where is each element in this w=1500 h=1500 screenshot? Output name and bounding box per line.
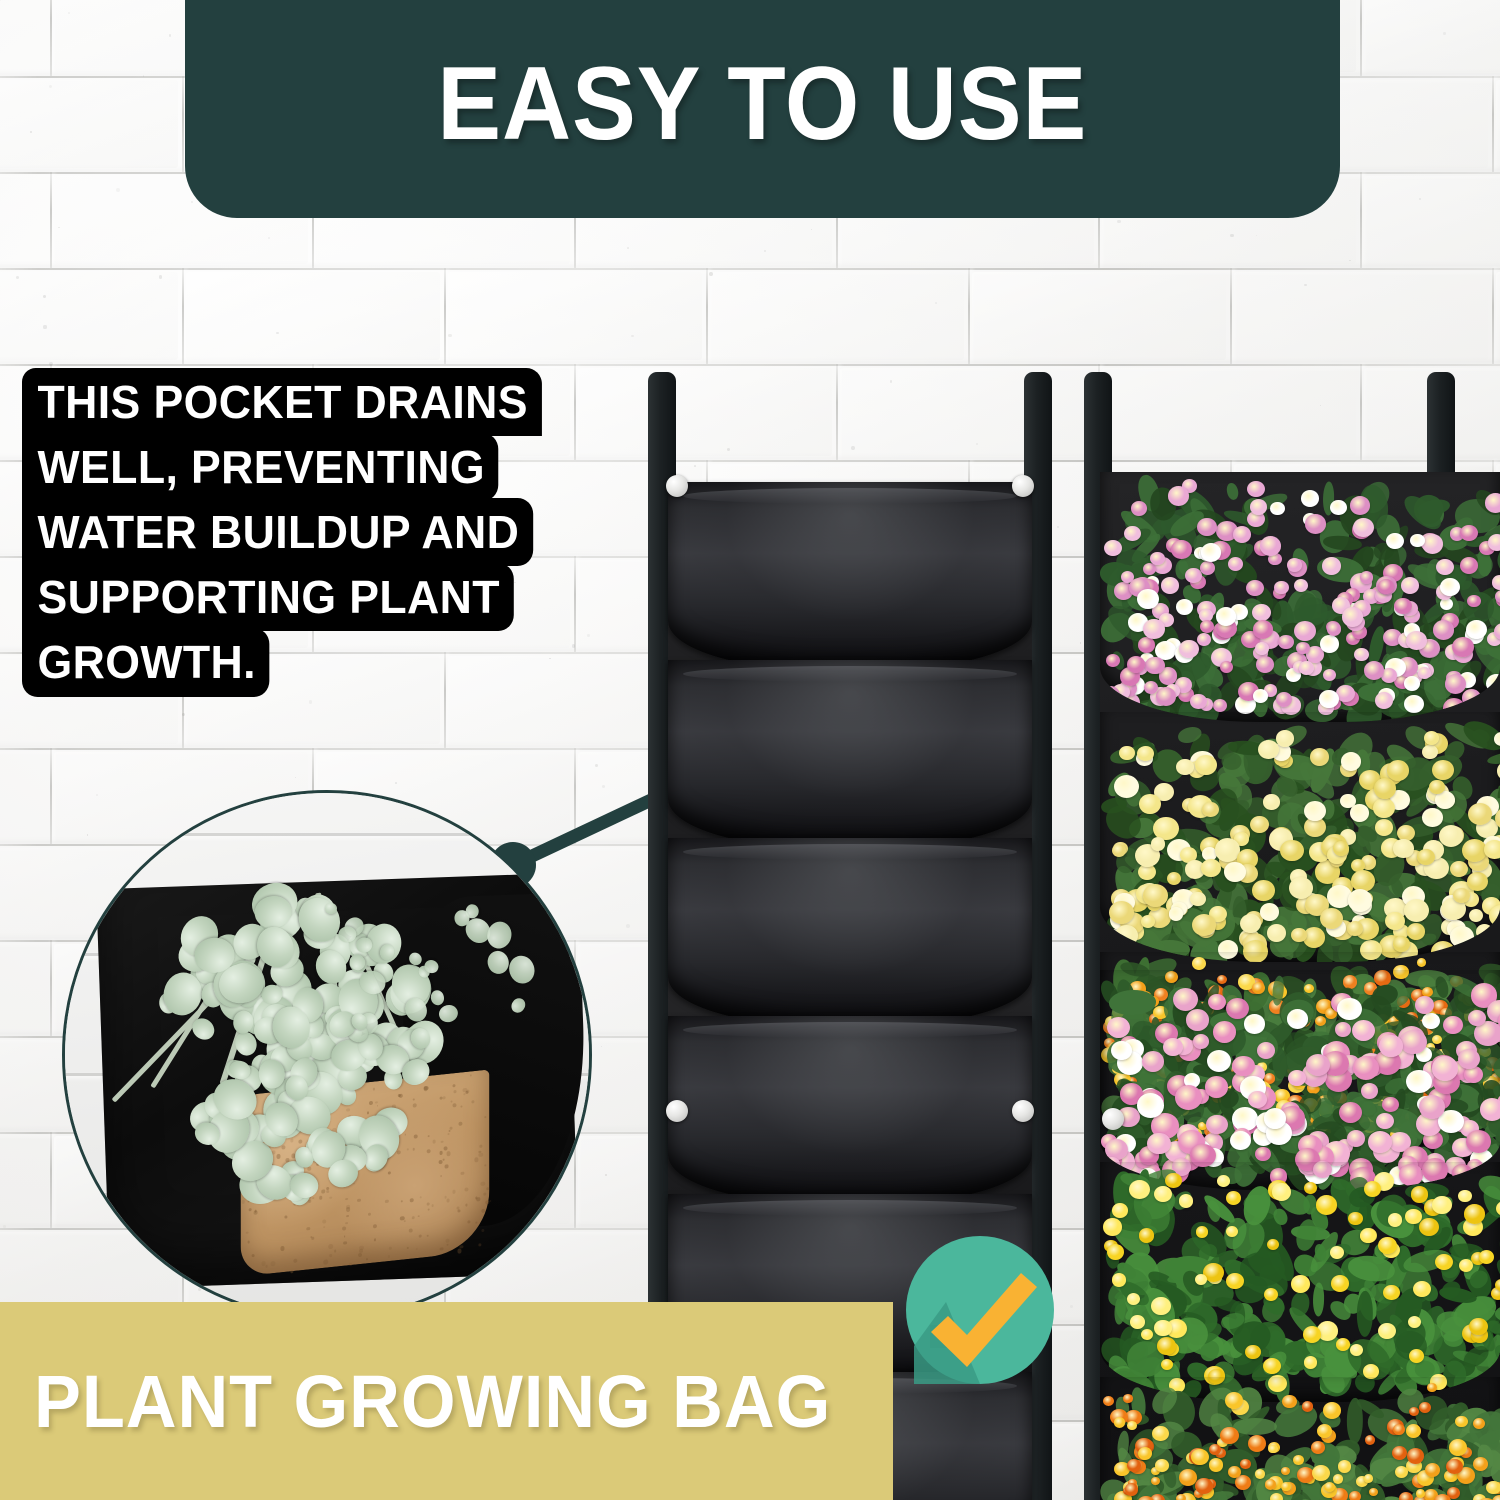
flower-bloom [1209, 1444, 1221, 1455]
flower-bloom [1265, 1479, 1276, 1489]
flower-bloom [1411, 1186, 1429, 1202]
soil-grain [407, 1247, 409, 1249]
flower-bloom [1139, 794, 1160, 814]
foliage-leaf [1357, 1291, 1373, 1337]
flower-bloom [1353, 1056, 1379, 1080]
flower-bloom [1466, 620, 1487, 639]
soil-grain [458, 1121, 462, 1126]
soil-grain [373, 1088, 375, 1090]
brick-mortar-vertical [706, 268, 708, 364]
flower-bloom [1445, 674, 1466, 693]
flower-bloom [1492, 575, 1500, 589]
soil-grain [246, 1231, 249, 1234]
planted-grow-bag [1072, 372, 1500, 1500]
brick-mortar-vertical [50, 1132, 52, 1228]
flower-bloom [1373, 798, 1395, 818]
soil-grain [343, 1241, 346, 1245]
flower-bloom [1488, 534, 1500, 551]
flower-bloom [1459, 1259, 1473, 1272]
flower-bloom [1417, 958, 1427, 967]
brick-face [1234, 272, 1488, 360]
flower-bloom [1138, 1447, 1153, 1460]
flower-bloom [1432, 760, 1454, 780]
soil-grain [449, 1127, 452, 1131]
soil-grain [252, 1254, 255, 1257]
wall-speck [1349, 260, 1351, 262]
flower-bloom [1247, 481, 1265, 497]
flower-bloom [1350, 804, 1369, 821]
soil-grain [427, 1235, 429, 1237]
flower-bloom [1161, 1359, 1173, 1370]
soil-grain [470, 1074, 472, 1076]
flower-bloom [1145, 657, 1164, 675]
soil-grain [388, 1255, 390, 1258]
soil-grain [346, 1214, 349, 1217]
check-badge [906, 1236, 1054, 1384]
flower-bloom [1191, 1449, 1209, 1465]
soil-grain [322, 1220, 326, 1224]
soil-grain [353, 1183, 355, 1185]
soil-grain [464, 1187, 468, 1192]
wall-speck [143, 75, 144, 76]
soil-grain [477, 1197, 481, 1201]
flower-bloom [1127, 1421, 1137, 1430]
foliage [1100, 712, 1500, 962]
flower-bloom [1213, 1021, 1236, 1043]
wall-speck [631, 335, 633, 337]
flower-bloom [1282, 1395, 1296, 1408]
soil-grain [344, 1235, 346, 1237]
bag-body [1100, 472, 1500, 1500]
flower-bloom [1167, 872, 1181, 885]
flower-bloom [1450, 926, 1474, 948]
soil-grain [479, 1152, 484, 1157]
soil-grain [271, 1261, 276, 1266]
flower-bloom [1450, 861, 1468, 878]
soil-grain [483, 1192, 486, 1196]
flower-bloom [1485, 493, 1500, 512]
callout-line-1: THIS POCKET DRAINS [22, 368, 542, 436]
flower-bloom [1350, 496, 1370, 514]
flower-bloom [1353, 518, 1374, 537]
flower-bloom [1125, 1483, 1138, 1495]
foliage [1100, 1162, 1500, 1402]
flower-bloom [1291, 928, 1306, 942]
wall-speck [268, 237, 270, 239]
flower-bloom [1360, 571, 1374, 584]
flower-bloom [1142, 1051, 1164, 1071]
flower-bloom [1406, 631, 1427, 650]
soil-grain [427, 1135, 429, 1138]
flower-bloom [1293, 1455, 1304, 1465]
flower-bloom [1393, 839, 1413, 858]
brick-mortar-vertical [1230, 268, 1232, 364]
flower-bloom [1112, 1203, 1128, 1218]
flower-bloom [1157, 1337, 1176, 1355]
flower-bloom [1137, 1093, 1164, 1118]
page-title: EASY TO USE [438, 52, 1088, 156]
soil-grain [345, 1197, 348, 1200]
soil-grain [312, 1197, 314, 1199]
soil-grain [241, 1200, 244, 1204]
soil-grain [426, 1149, 430, 1154]
pocket-closeup-inset [62, 790, 592, 1320]
flower-bloom [1226, 998, 1249, 1019]
soil-grain [413, 1103, 417, 1107]
brick-face [710, 272, 964, 360]
flower-bloom [1378, 1237, 1397, 1254]
flower-bloom [1179, 640, 1198, 658]
flower-bloom [1141, 1329, 1153, 1340]
soil-grain [293, 1259, 297, 1264]
flower-bloom [1263, 1358, 1281, 1374]
flower-bloom [1281, 1482, 1291, 1491]
soil-grain [410, 1198, 414, 1202]
flower-bloom [1407, 923, 1425, 939]
soil-grain [342, 1226, 346, 1231]
plant-leaf [325, 903, 337, 914]
soil-grain [366, 1258, 368, 1260]
flower-bloom [1171, 540, 1192, 559]
soil-grain [457, 1209, 460, 1212]
soil-grain [465, 1203, 468, 1206]
soil-grain [330, 1197, 332, 1199]
soil-grain [399, 1093, 403, 1098]
footer-banner: PLANT GROWING BAG [0, 1302, 893, 1500]
soil-grain [419, 1234, 422, 1237]
brick-mortar-vertical [50, 748, 52, 844]
flower-bloom [1216, 607, 1236, 626]
soil-grain [444, 1146, 448, 1150]
flower-bloom [1260, 903, 1279, 921]
wall-speck [0, 0, 1, 1]
soil-grain [481, 1181, 485, 1186]
soil-grain [280, 1246, 285, 1251]
soil-grain [476, 1222, 478, 1224]
brick-face [1364, 0, 1500, 72]
flower-bloom [1195, 755, 1217, 775]
flower-bloom [1415, 996, 1434, 1014]
brick-face [1364, 176, 1500, 264]
soil-grain [474, 1157, 479, 1162]
soil-grain [439, 1151, 443, 1155]
soil-grain [413, 1134, 417, 1139]
flower-bloom [1260, 536, 1281, 556]
soil-grain [346, 1222, 349, 1225]
flower-bloom [1467, 872, 1488, 891]
flower-bloom [1152, 1426, 1169, 1441]
foliage-leaf [1225, 482, 1240, 501]
flower-bloom [1264, 1288, 1279, 1302]
flower-bloom [1401, 577, 1419, 594]
flower-bloom [1364, 1474, 1373, 1482]
flower-bloom [1256, 656, 1274, 673]
flower-bloom [1432, 1056, 1459, 1081]
flower-bloom [1288, 1070, 1305, 1086]
soil-grain [447, 1133, 449, 1135]
wall-speck [395, 782, 397, 784]
flower-bloom [1276, 730, 1294, 746]
flower-bloom [1139, 1228, 1155, 1242]
soil-grain [441, 1140, 443, 1143]
flower-bloom [1103, 1396, 1114, 1406]
flower-bloom [1376, 1113, 1393, 1129]
flower-bloom [1351, 870, 1375, 892]
flower-bloom [1287, 558, 1302, 572]
flower-bloom [1365, 1435, 1375, 1444]
wall-speck [182, 713, 185, 716]
flower-bloom [1336, 685, 1355, 702]
soil-grain [457, 1249, 461, 1254]
soil-grain [323, 1259, 328, 1264]
flower-bloom [1327, 622, 1342, 635]
pocket-calendula [1100, 1377, 1500, 1500]
soil-grain [326, 1190, 329, 1193]
flower-bloom [1270, 502, 1284, 515]
flower-bloom [1201, 859, 1220, 877]
callout-line-4: SUPPORTING PLANT [22, 563, 513, 631]
flower-bloom [1473, 1418, 1485, 1429]
wall-speck [169, 34, 172, 37]
flower-bloom [1347, 921, 1363, 936]
flower-bloom [1392, 1446, 1407, 1460]
flower-bloom [1154, 1320, 1171, 1336]
soil-grain [452, 1190, 455, 1194]
soil-grain [330, 1254, 333, 1257]
flower-bloom [1107, 1244, 1124, 1260]
flower-bloom [1250, 816, 1269, 834]
soil-grain [424, 1086, 428, 1091]
soil-grain [407, 1149, 409, 1151]
flower-bloom [1154, 1186, 1172, 1202]
grommet [666, 1100, 688, 1122]
flower-bloom [1155, 1459, 1169, 1472]
soil-grain [375, 1101, 378, 1104]
flower-bloom [1302, 1401, 1313, 1411]
flower-bloom [1393, 1424, 1405, 1435]
flower-bloom [1226, 1191, 1241, 1205]
flower-bloom [1114, 775, 1139, 798]
flower-bloom [1104, 540, 1122, 557]
flower-bloom [1349, 1491, 1361, 1500]
bag-pocket [668, 482, 1032, 670]
soil-grain [480, 1145, 482, 1147]
flower-bloom [1186, 1009, 1210, 1031]
flower-bloom [1228, 557, 1243, 571]
flower-bloom [1118, 699, 1133, 713]
soil-grain [401, 1200, 403, 1202]
flower-bloom [1255, 642, 1269, 655]
flower-bloom [1296, 642, 1310, 654]
flower-bloom [1452, 637, 1474, 657]
flower-bloom [1316, 1195, 1337, 1214]
flower-bloom [1192, 957, 1207, 970]
inset-mortar-line [62, 833, 592, 836]
flower-bloom [1130, 1315, 1145, 1328]
flower-bloom [1416, 1489, 1425, 1498]
flower-bloom [1165, 1173, 1182, 1189]
pocket-pink-alstroemeria [1100, 970, 1500, 1190]
grommet [1012, 1100, 1034, 1122]
flower-bloom [1272, 1183, 1291, 1201]
wall-speck [68, 12, 70, 14]
flower-bloom [1169, 907, 1183, 920]
soil-grain [358, 1252, 362, 1257]
soil-grain [347, 1205, 351, 1209]
flower-bloom [1486, 1481, 1500, 1494]
brick-mortar-line [0, 364, 1500, 366]
flower-bloom [1320, 908, 1343, 930]
soil-grain [416, 1248, 418, 1250]
flower-bloom [1480, 1098, 1500, 1121]
flower-bloom [1176, 1494, 1186, 1500]
flower-bloom [1196, 1226, 1208, 1237]
soil-grain [453, 1103, 457, 1108]
flower-bloom [1190, 694, 1207, 710]
flower-bloom [1406, 1070, 1431, 1093]
flower-bloom [1405, 1209, 1421, 1224]
flower-bloom [1348, 889, 1372, 911]
flower-bloom [1156, 687, 1176, 706]
flower-bloom [1375, 692, 1393, 709]
flower-bloom [1258, 740, 1279, 759]
flower-bloom [1225, 1392, 1244, 1409]
flower-bloom [1379, 1035, 1402, 1056]
flower-bloom [1330, 1246, 1344, 1259]
soil-grain [326, 1187, 329, 1190]
flower-bloom [1458, 1190, 1472, 1203]
foliage-leaf [1303, 1194, 1317, 1215]
wall-speck [116, 188, 120, 192]
flower-bloom [1336, 1338, 1350, 1350]
flower-bloom [1168, 486, 1189, 506]
flower-bloom [1424, 731, 1439, 745]
flower-bloom [1404, 695, 1424, 713]
flower-bloom [1409, 1349, 1425, 1363]
flower-bloom [1453, 888, 1470, 903]
soil-grain [445, 1165, 448, 1169]
wall-speck [601, 1046, 602, 1047]
brick-mortar-vertical [182, 76, 184, 172]
soil-grain [446, 1199, 449, 1203]
flower-bloom [1312, 1465, 1330, 1482]
soil-grain [281, 1145, 285, 1149]
foliage [1100, 970, 1500, 1190]
callout-line-5: GROWTH. [22, 628, 269, 696]
pocket-yellow-daffodils [1100, 1162, 1500, 1402]
soil-grain [299, 1139, 303, 1143]
flower-bloom [1291, 1275, 1311, 1293]
flower-bloom [1197, 518, 1217, 536]
soil-grain [308, 1167, 312, 1171]
soil-grain [368, 1212, 371, 1216]
wall-speck [16, 276, 19, 279]
flower-bloom [1443, 1016, 1463, 1034]
flower-bloom [1137, 589, 1159, 609]
flower-bloom [1208, 994, 1226, 1010]
grommet [1012, 475, 1034, 497]
flower-bloom [1112, 1273, 1127, 1286]
flower-bloom [1114, 1417, 1126, 1428]
flower-bloom [1399, 1492, 1413, 1500]
flower-bloom [1232, 1107, 1257, 1130]
flower-bloom [1119, 746, 1135, 760]
soil-grain [413, 1098, 415, 1100]
flower-bloom [1419, 1095, 1445, 1119]
flower-bloom [1113, 938, 1128, 951]
soil-grain [471, 1100, 474, 1103]
flower-bloom [1264, 1108, 1286, 1128]
flower-bloom [1176, 759, 1193, 775]
soil-grain [334, 1250, 336, 1253]
brick-face [1496, 272, 1500, 360]
wall-speck [627, 247, 629, 249]
flower-bloom [1232, 1056, 1254, 1077]
grommet [666, 475, 688, 497]
brick-mortar-vertical [50, 172, 52, 268]
flower-bloom [1320, 635, 1339, 653]
soil-grain [346, 1108, 349, 1112]
product-name: PLANT GROWING BAG [34, 1359, 831, 1444]
flower-bloom [1138, 637, 1155, 653]
bag-pocket [668, 660, 1032, 848]
flower-bloom [1209, 1458, 1223, 1471]
soil-grain [428, 1209, 430, 1211]
soil-grain [443, 1159, 445, 1161]
flower-bloom [1378, 1323, 1396, 1339]
soil-grain [432, 1140, 435, 1144]
flower-bloom [1460, 525, 1478, 541]
flower-bloom [1323, 1402, 1341, 1419]
flower-bloom [1143, 619, 1164, 639]
flower-bloom [1220, 661, 1233, 673]
flower-bloom [1151, 837, 1166, 850]
flower-bloom [1323, 669, 1336, 681]
soil-grain [385, 1200, 388, 1203]
flower-bloom [1253, 689, 1268, 703]
soil-grain [479, 1150, 482, 1153]
flower-bloom [1342, 607, 1364, 627]
wall-speck [159, 275, 162, 278]
soil-grain [377, 1105, 379, 1107]
flower-bloom [1432, 1196, 1451, 1214]
soil-grain [388, 1171, 391, 1175]
flower-bloom [1304, 1182, 1317, 1194]
flower-bloom [1123, 1394, 1133, 1403]
soil-grain [247, 1240, 250, 1243]
flower-bloom [1109, 901, 1134, 924]
wall-speck [626, 924, 630, 928]
flower-bloom [1352, 1020, 1375, 1041]
callout-text-block: THIS POCKET DRAINS WELL, PREVENTING WATE… [22, 368, 642, 697]
soil-grain [447, 1243, 449, 1246]
soil-grain [418, 1215, 420, 1217]
brick-face [0, 80, 178, 168]
soil-grain [446, 1238, 450, 1242]
soil-grain [440, 1247, 443, 1251]
flower-bloom [1278, 635, 1294, 649]
soil-grain [446, 1151, 450, 1156]
soil-grain [440, 1175, 442, 1177]
wall-speck [1419, 198, 1421, 200]
flower-bloom [1304, 1356, 1317, 1368]
flower-bloom [1333, 1474, 1343, 1484]
flower-bloom [1111, 1041, 1132, 1061]
soil-grain [389, 1247, 392, 1250]
soil-grain [253, 1210, 257, 1214]
flower-bloom [1339, 1102, 1362, 1123]
soil-grain [276, 1154, 280, 1159]
